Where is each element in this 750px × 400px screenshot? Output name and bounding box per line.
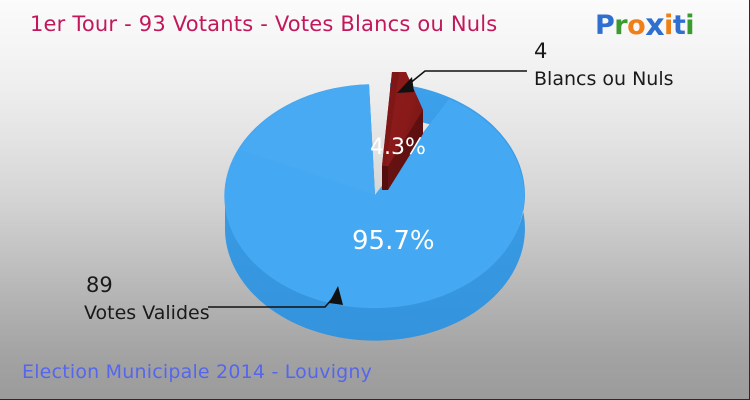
annotation-valides-label: Votes Valides (84, 298, 210, 328)
annotation-valides-value: 89 (84, 272, 210, 298)
pie-slice-votes-valides (224, 83, 525, 340)
annotation-blancs-ou-nuls: 4 Blancs ou Nuls (534, 38, 674, 94)
annotation-blancs-label: Blancs ou Nuls (534, 64, 674, 94)
leader-line-blancs (409, 71, 527, 84)
pie-percent-label-blank: 4.3% (370, 135, 426, 160)
chart-footer-caption: Election Municipale 2014 - Louvigny (22, 361, 372, 383)
pie-percent-label-valid: 95.7% (352, 226, 435, 256)
annotation-votes-valides: 89 Votes Valides (84, 272, 210, 328)
annotation-blancs-value: 4 (534, 38, 674, 64)
pie-chart-figure: 1er Tour - 93 Votants - Votes Blancs ou … (0, 0, 750, 400)
